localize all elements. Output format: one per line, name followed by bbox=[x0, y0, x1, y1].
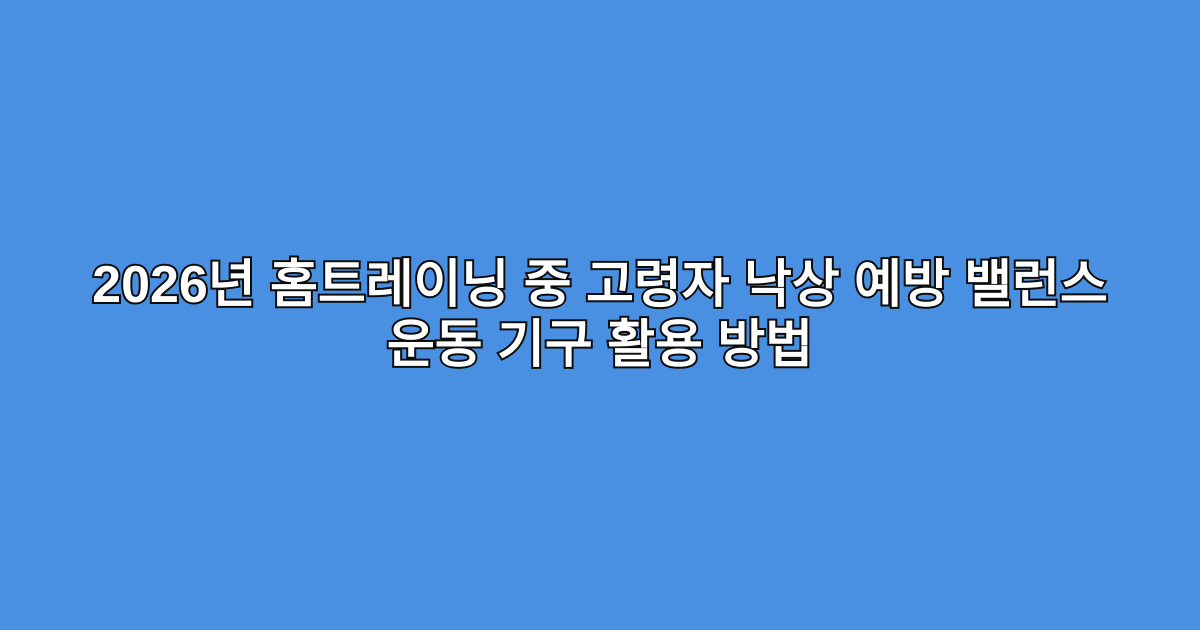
page-title: 2026년 홈트레이닝 중 고령자 낙상 예방 밸런스 운동 기구 활용 방법 bbox=[70, 255, 1130, 375]
og-banner: 2026년 홈트레이닝 중 고령자 낙상 예방 밸런스 운동 기구 활용 방법 bbox=[0, 0, 1200, 630]
